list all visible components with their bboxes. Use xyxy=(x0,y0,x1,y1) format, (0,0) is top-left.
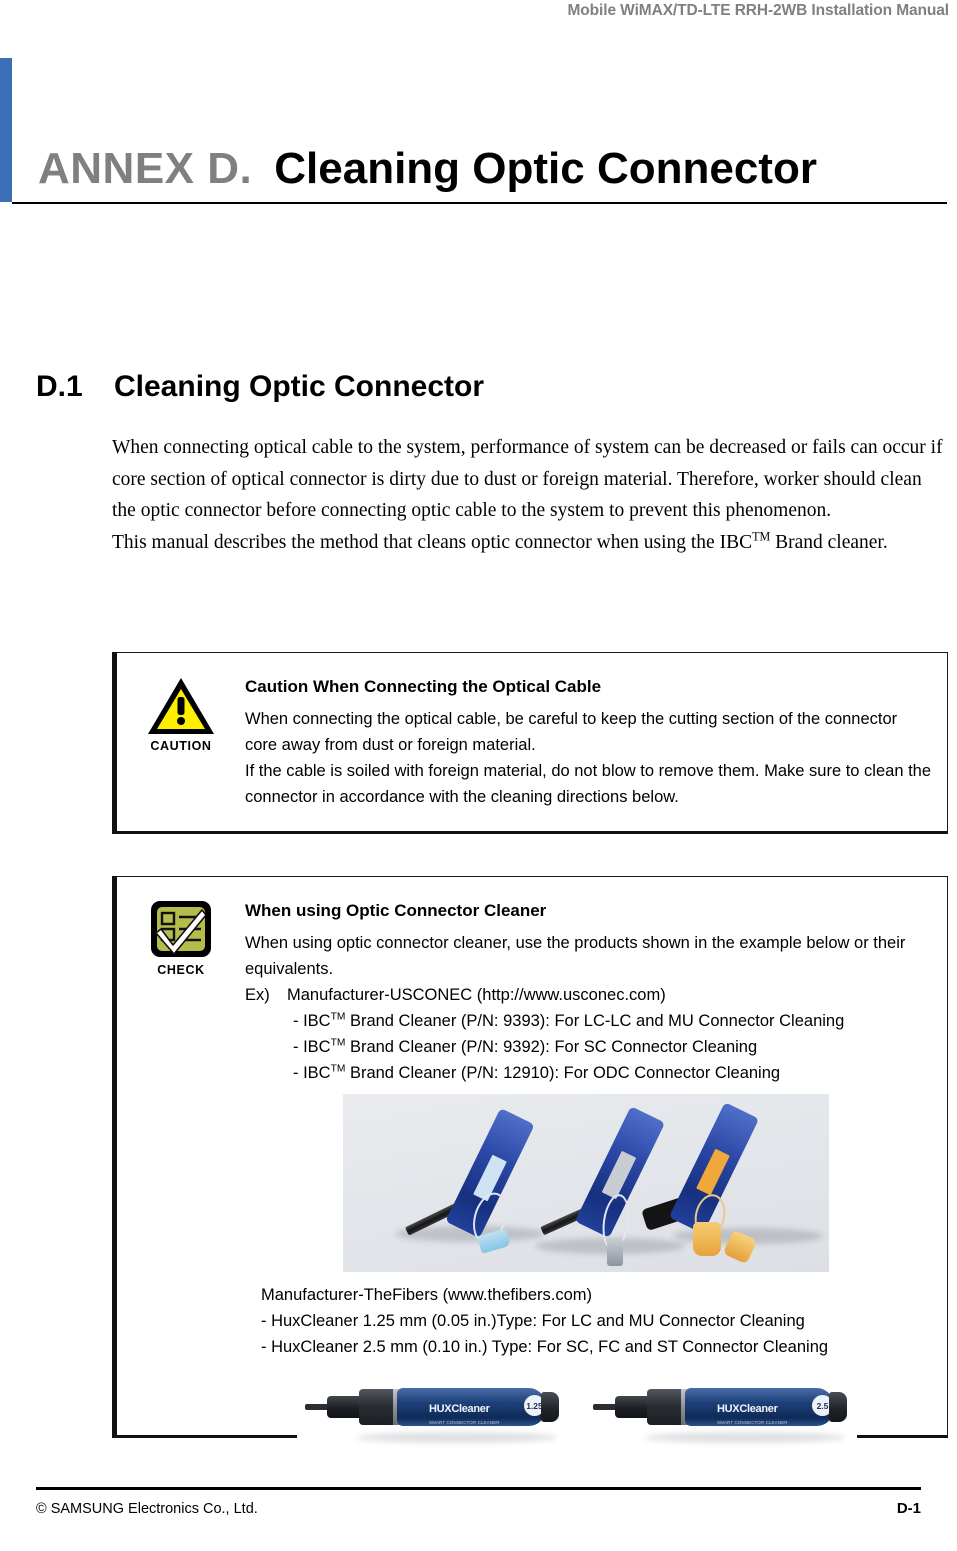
ibc-prefix: - IBC xyxy=(293,1038,331,1056)
footer-page-number: D-1 xyxy=(897,1500,921,1517)
annex-accent-bar xyxy=(0,58,12,202)
list-item: - IBCTM Brand Cleaner (P/N: 12910): For … xyxy=(245,1060,933,1086)
intro-para2-after: Brand cleaner. xyxy=(770,532,888,553)
annex-title: Cleaning Optic Connector xyxy=(274,144,817,194)
page-title: D.1 Cleaning Optic Connector xyxy=(36,370,484,404)
trademark-sup: TM xyxy=(331,1064,346,1075)
check-body: When using Optic Connector Cleaner When … xyxy=(245,877,947,1452)
pen-cap xyxy=(829,1392,847,1422)
warning-triangle-icon xyxy=(146,675,216,737)
manufacturer-usconec: Manufacturer-USCONEC (http://www.usconec… xyxy=(287,982,933,1008)
huxcleaner-photo: HUXCleaner SMART CONNECTOR CLEANER 1.25 … xyxy=(297,1370,857,1452)
checklist-icon xyxy=(149,899,213,961)
annex-title-row: ANNEX D. Cleaning Optic Connector xyxy=(38,144,817,194)
footer-divider xyxy=(36,1487,921,1490)
check-line-1: When using optic connector cleaner, use … xyxy=(245,930,933,982)
caution-line-1: When connecting the optical cable, be ca… xyxy=(245,706,933,758)
ibc-rest: Brand Cleaner (P/N: 9392): For SC Connec… xyxy=(345,1038,757,1056)
example-tag: Ex) xyxy=(245,982,287,1008)
pen-nose xyxy=(327,1396,363,1418)
intro-para2-before: This manual describes the method that cl… xyxy=(112,532,752,553)
list-item: - IBCTM Brand Cleaner (P/N: 9392): For S… xyxy=(245,1034,933,1060)
trademark-sup: TM xyxy=(752,529,770,543)
check-title: When using Optic Connector Cleaner xyxy=(245,899,933,923)
list-item: - HuxCleaner 2.5 mm (0.10 in.) Type: For… xyxy=(245,1334,933,1360)
caution-icon-column: CAUTION xyxy=(117,653,245,753)
footer-copyright: © SAMSUNG Electronics Co., Ltd. xyxy=(36,1501,258,1517)
annex-label: ANNEX D. xyxy=(38,144,252,194)
caution-notice-box: CAUTION Caution When Connecting the Opti… xyxy=(112,652,948,834)
example-block: Ex) Manufacturer-USCONEC (http://www.usc… xyxy=(245,982,933,1008)
caution-icon-label: CAUTION xyxy=(150,739,211,753)
ibc-prefix: - IBC xyxy=(293,1012,331,1030)
running-header: Mobile WiMAX/TD-LTE RRH-2WB Installation… xyxy=(0,0,949,26)
intro-paragraph-1: When connecting optical cable to the sys… xyxy=(112,432,948,527)
check-icon-column: CHECK xyxy=(117,877,245,977)
caution-icon-wrap: CAUTION xyxy=(146,675,216,753)
ibc-rest: Brand Cleaner (P/N: 12910): For ODC Conn… xyxy=(345,1064,780,1082)
page-footer: © SAMSUNG Electronics Co., Ltd. D-1 xyxy=(36,1500,921,1517)
list-item: - IBCTM Brand Cleaner (P/N: 9393): For L… xyxy=(245,1008,933,1034)
ibc-rest: Brand Cleaner (P/N: 9393): For LC-LC and… xyxy=(345,1012,844,1030)
check-notice-box: CHECK When using Optic Connector Cleaner… xyxy=(112,876,948,1438)
caution-line-2: If the cable is soiled with foreign mate… xyxy=(245,758,933,810)
section-title: Cleaning Optic Connector xyxy=(114,370,484,404)
caution-title: Caution When Connecting the Optical Cabl… xyxy=(245,675,933,699)
pen-cap xyxy=(541,1392,559,1422)
manufacturer-thefibers: Manufacturer-TheFibers (www.thefibers.co… xyxy=(245,1282,933,1308)
annex-title-band: ANNEX D. Cleaning Optic Connector xyxy=(0,58,947,206)
pen-nose xyxy=(615,1396,651,1418)
list-item: - HuxCleaner 1.25 mm (0.05 in.)Type: For… xyxy=(245,1308,933,1334)
caution-body: Caution When Connecting the Optical Cabl… xyxy=(245,653,947,810)
huxcleaner-pen: HUXCleaner SMART CONNECTOR CLEANER 1.25 xyxy=(297,1386,569,1428)
intro-text: When connecting optical cable to the sys… xyxy=(112,432,948,558)
connector-boot xyxy=(607,1238,623,1266)
annex-divider xyxy=(12,202,947,204)
connector-boot xyxy=(693,1222,721,1256)
pen-sub-label: SMART CONNECTOR CLEANER xyxy=(717,1410,788,1436)
trademark-sup: TM xyxy=(331,1038,346,1049)
ibc-cleaners-photo xyxy=(343,1094,829,1272)
section-number: D.1 xyxy=(36,370,114,404)
check-icon-wrap: CHECK xyxy=(149,899,213,977)
intro-paragraph-2: This manual describes the method that cl… xyxy=(112,527,948,559)
huxcleaner-pen: HUXCleaner SMART CONNECTOR CLEANER 2.5 xyxy=(585,1386,857,1428)
pen-sub-label: SMART CONNECTOR CLEANER xyxy=(429,1410,500,1436)
trademark-sup: TM xyxy=(331,1012,346,1023)
check-icon-label: CHECK xyxy=(157,963,204,977)
ibc-prefix: - IBC xyxy=(293,1064,331,1082)
